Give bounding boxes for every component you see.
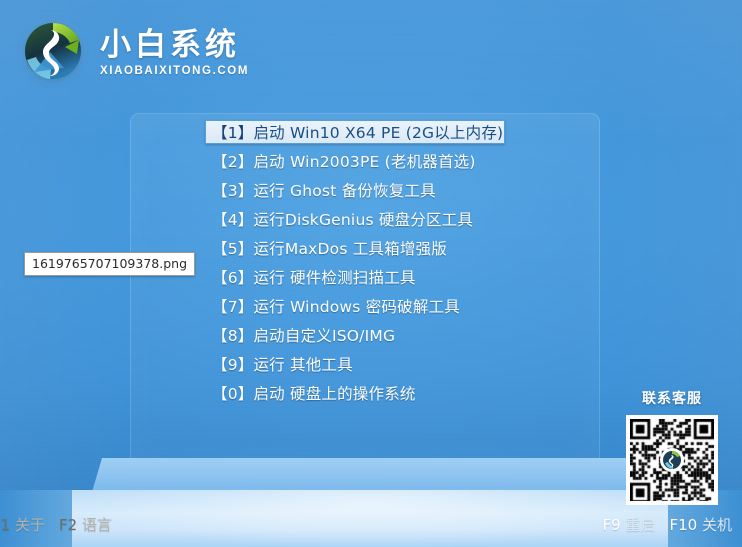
hotkey-f2-key: F2 — [59, 516, 77, 534]
boot-menu-item-key: 【6】 — [212, 266, 253, 288]
boot-menu-item-7[interactable]: 【7】运行 Windows 密码破解工具 — [205, 294, 505, 318]
boot-menu-screen: 小白系统 XIAOBAIXITONG.COM 【1】启动 Win10 X64 P… — [0, 0, 742, 547]
boot-menu-item-3[interactable]: 【3】运行 Ghost 备份恢复工具 — [205, 178, 505, 202]
boot-menu-item-2[interactable]: 【2】启动 Win2003PE (老机器首选) — [205, 149, 505, 173]
qr-code-icon[interactable] — [626, 415, 718, 505]
boot-menu-item-label: 运行 Ghost 备份恢复工具 — [253, 179, 435, 201]
boot-menu-item-label: 启动 Win2003PE (老机器首选) — [253, 150, 475, 172]
boot-menu-item-1[interactable]: 【1】启动 Win10 X64 PE (2G以上内存) — [205, 120, 505, 144]
hotkey-f1-key: F1 — [0, 516, 10, 534]
xiaobai-circle-logo-icon — [16, 14, 90, 88]
boot-menu-item-label: 运行 硬件检测扫描工具 — [253, 266, 415, 288]
boot-menu-item-key: 【0】 — [212, 382, 253, 404]
boot-menu-item-key: 【3】 — [212, 179, 253, 201]
support-title: 联系客服 — [618, 388, 726, 408]
hotkey-f1-label: 关于 — [15, 516, 45, 534]
boot-menu-item-label: 启动自定义ISO/IMG — [253, 324, 395, 346]
boot-menu-item-key: 【9】 — [212, 353, 253, 375]
brand-name-cn: 小白系统 — [100, 29, 249, 62]
boot-menu-item-label: 运行 其他工具 — [253, 353, 352, 375]
boot-menu-item-key: 【5】 — [212, 237, 253, 259]
hotkey-f9-label: 重启 — [625, 516, 655, 534]
pedestal-top-surface — [92, 458, 648, 492]
boot-menu-item-9[interactable]: 【9】运行 其他工具 — [205, 352, 505, 376]
boot-menu-item-key: 【1】 — [212, 121, 253, 143]
boot-menu-item-4[interactable]: 【4】运行DiskGenius 硬盘分区工具 — [205, 207, 505, 231]
boot-menu-item-label: 运行 Windows 密码破解工具 — [253, 295, 459, 317]
boot-menu-item-key: 【4】 — [212, 208, 253, 230]
hotkeys-right: F9 重启F10 关机 — [603, 514, 732, 535]
brand-name-en: XIAOBAIXITONG.COM — [100, 65, 249, 77]
filename-tooltip: 1619765707109378.png — [24, 252, 195, 276]
boot-menu-item-8[interactable]: 【8】启动自定义ISO/IMG — [205, 323, 505, 347]
brand-logo: 小白系统 XIAOBAIXITONG.COM — [16, 14, 249, 88]
boot-menu-item-label: 运行MaxDos 工具箱增强版 — [253, 237, 446, 259]
boot-menu-item-label: 启动 Win10 X64 PE (2G以上内存) — [253, 121, 503, 143]
brand-text: 小白系统 XIAOBAIXITONG.COM — [100, 25, 249, 77]
pedestal-front-face — [72, 490, 668, 547]
customer-support-block: 联系客服 — [618, 388, 726, 505]
hotkey-f10-key: F10 — [669, 516, 697, 534]
boot-menu-item-10[interactable]: 【0】启动 硬盘上的操作系统 — [205, 381, 505, 405]
hotkey-f2-label: 语言 — [82, 516, 112, 534]
boot-menu-item-6[interactable]: 【6】运行 硬件检测扫描工具 — [205, 265, 505, 289]
hotkey-f10-label: 关机 — [702, 516, 732, 534]
boot-menu-item-5[interactable]: 【5】运行MaxDos 工具箱增强版 — [205, 236, 505, 260]
boot-menu-item-key: 【7】 — [212, 295, 253, 317]
boot-menu-item-label: 启动 硬盘上的操作系统 — [253, 382, 415, 404]
hotkey-f9-key: F9 — [603, 516, 621, 534]
boot-menu-item-label: 运行DiskGenius 硬盘分区工具 — [253, 208, 473, 230]
boot-menu-item-key: 【8】 — [212, 324, 253, 346]
hotkeys-left: F1 关于F2 语言 — [0, 514, 112, 535]
boot-menu-item-key: 【2】 — [212, 150, 253, 172]
qr-center-logo-icon — [662, 450, 682, 470]
boot-menu-list[interactable]: 【1】启动 Win10 X64 PE (2G以上内存)【2】启动 Win2003… — [205, 120, 505, 410]
